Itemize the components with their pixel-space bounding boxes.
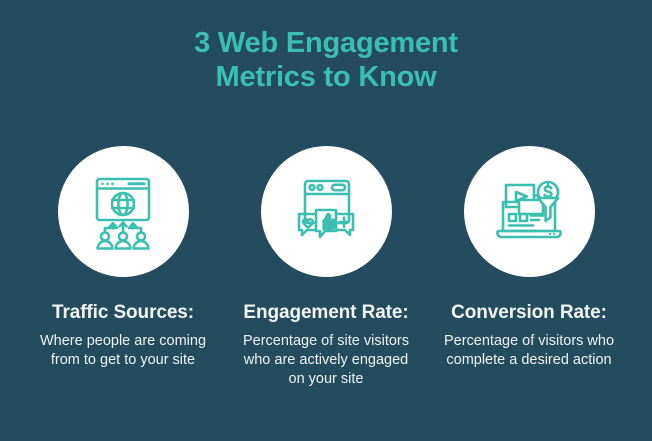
icon-circle-conversion-rate bbox=[464, 146, 595, 277]
page-title: 3 Web Engagement Metrics to Know bbox=[0, 26, 652, 94]
conversion-rate-icon bbox=[489, 172, 569, 252]
icon-circle-traffic-sources bbox=[58, 146, 189, 277]
engagement-rate-icon bbox=[286, 172, 366, 252]
metric-description-line: complete a desired action bbox=[431, 351, 627, 370]
metric-heading-traffic-sources: Traffic Sources: bbox=[52, 301, 194, 325]
metric-description-line: who are actively engaged bbox=[228, 351, 424, 370]
page-title-line-1: 3 Web Engagement bbox=[0, 26, 652, 60]
metric-column-engagement-rate: Engagement Rate: Percentage of site visi… bbox=[225, 146, 428, 389]
traffic-sources-icon bbox=[83, 172, 163, 252]
metric-description-engagement-rate: Percentage of site visitors who are acti… bbox=[228, 332, 424, 389]
metric-description-conversion-rate: Percentage of visitors who complete a de… bbox=[431, 332, 627, 370]
page-title-line-2: Metrics to Know bbox=[0, 60, 652, 94]
infographic-root: 3 Web Engagement Metrics to Know bbox=[0, 0, 652, 441]
icon-circle-engagement-rate bbox=[261, 146, 392, 277]
metric-description-line: Percentage of site visitors bbox=[228, 332, 424, 351]
metric-description-line: Percentage of visitors who bbox=[431, 332, 627, 351]
metric-column-conversion-rate: Conversion Rate: Percentage of visitors … bbox=[428, 146, 631, 370]
metric-heading-conversion-rate: Conversion Rate: bbox=[451, 301, 607, 325]
metric-column-traffic-sources: Traffic Sources: Where people are coming… bbox=[22, 146, 225, 370]
metric-heading-engagement-rate: Engagement Rate: bbox=[243, 301, 408, 325]
metric-description-traffic-sources: Where people are coming from to get to y… bbox=[25, 332, 221, 370]
metric-description-line: from to get to your site bbox=[25, 351, 221, 370]
metrics-columns: Traffic Sources: Where people are coming… bbox=[0, 146, 652, 389]
metric-description-line: Where people are coming bbox=[25, 332, 221, 351]
metric-description-line: on your site bbox=[228, 370, 424, 389]
